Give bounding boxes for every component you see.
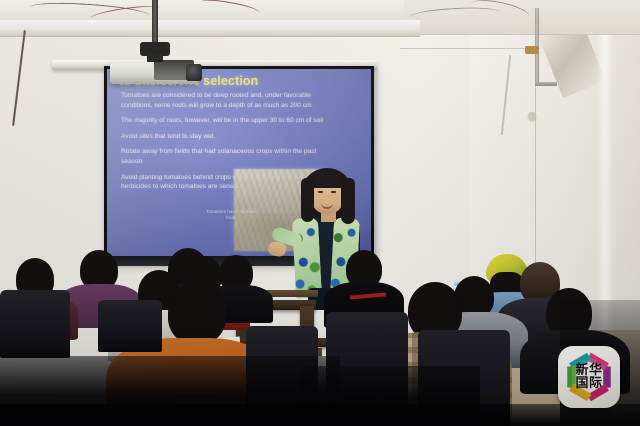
ceiling-beam (0, 20, 420, 37)
wall-seam (400, 48, 540, 49)
presenter-eye-right (331, 191, 336, 193)
watermark-line-2: 国际 (575, 377, 602, 390)
presenter-hair-left (301, 178, 314, 222)
chair-back (98, 300, 162, 352)
presenter-jacket-left (292, 217, 322, 298)
watermark-text: 新华 国际 (558, 346, 620, 408)
slide-paragraph: Tomatoes are considered to be deep roote… (121, 91, 336, 110)
projector-lens (186, 64, 202, 81)
attendee-head (168, 282, 226, 344)
chair-back (0, 290, 70, 358)
conduit-fitting (525, 46, 539, 54)
slide-photo-caption: Tomatoes have vigorous roots (202, 209, 260, 221)
photo-scene: to basics/site selection Tomatoes are co… (0, 0, 640, 426)
wall-hook (528, 112, 536, 120)
presenter-hair-right (341, 178, 355, 224)
slide-paragraph: Rotate away from fields that had solanac… (121, 147, 336, 166)
projector-mount-pole (152, 0, 158, 46)
wall-conduit-elbow (535, 82, 557, 86)
presenter-eye-left (318, 191, 323, 193)
foreground-shadow (0, 404, 640, 426)
slide-paragraph: The majority of roots, however, will be … (121, 116, 336, 126)
slide-paragraph: Avoid sites that tend to stay wet. (121, 132, 336, 142)
watermark-logo: 新华 国际 (558, 346, 620, 408)
